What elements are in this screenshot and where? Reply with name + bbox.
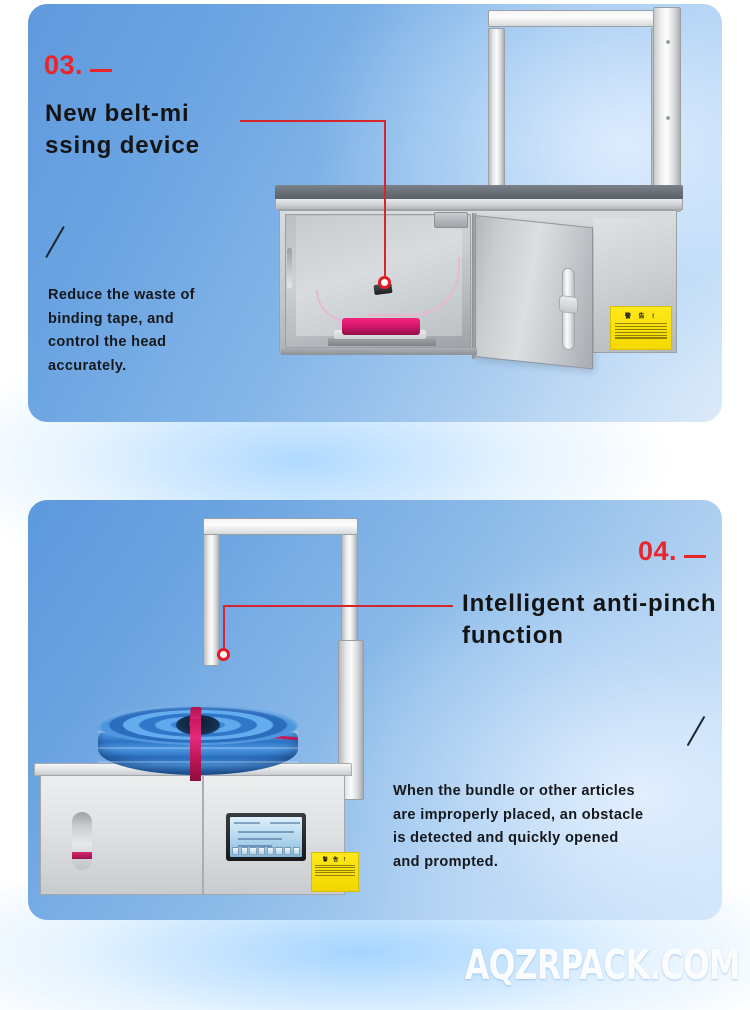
arch-leg-left [488, 28, 505, 208]
product-image-strapping-machine-with-roll: 警 告 ! [28, 500, 408, 920]
panel-body-04: When the bundle or other articles are im… [393, 780, 711, 875]
table-top-edge [275, 199, 683, 210]
warning-label-title: 警 告 ! [611, 311, 671, 320]
cabinet-panel-divider [202, 776, 204, 894]
callout-marker-04 [217, 648, 230, 661]
hmi-screen-display[interactable] [230, 817, 302, 857]
vertical-mast [653, 7, 681, 212]
arch-crossbar [203, 518, 358, 535]
arch-crossbar [488, 10, 668, 27]
hmi-button-row[interactable] [232, 847, 300, 855]
site-watermark: AQZRPACK.COM [105, 938, 750, 992]
blue-tape-roll [98, 705, 298, 783]
side-access-slot [72, 812, 92, 870]
panel-headline-03: New belt-mi ssing device [45, 98, 315, 162]
arch-leg-left [203, 534, 220, 666]
warning-label: 警 告 ! [610, 306, 672, 350]
tape-roll-strap-front [190, 719, 201, 781]
callout-marker-03 [378, 276, 391, 289]
callout-line-vertical-03 [384, 120, 386, 282]
door-handle-grip [559, 295, 578, 314]
warning-label: 警 告 ! [311, 852, 359, 892]
cabinet-base [281, 348, 477, 355]
number-underscore [684, 555, 706, 558]
warning-label-title: 警 告 ! [312, 856, 358, 863]
callout-line-horizontal-04 [223, 605, 453, 607]
panel-number-03: 03. [44, 52, 112, 79]
head-mechanism-block [434, 212, 468, 228]
panel-headline-04: Intelligent anti-pinch function [462, 588, 724, 652]
callout-line-horizontal-03 [240, 120, 386, 122]
hmi-touchscreen[interactable] [226, 813, 306, 861]
side-vent-slot [287, 248, 292, 288]
arch-frame [488, 10, 668, 208]
panel-body-03: Reduce the waste of binding tape, and co… [48, 284, 263, 379]
arch-frame [203, 518, 358, 666]
pink-tape-roll [342, 318, 420, 335]
tape-tray [328, 338, 436, 346]
panel-number-04: 04. [638, 538, 706, 565]
open-access-door [475, 215, 593, 369]
number-underscore [90, 69, 112, 72]
slot-strap-visible [72, 852, 92, 859]
product-image-strapping-machine-open-door: 警 告 ! [270, 0, 730, 420]
